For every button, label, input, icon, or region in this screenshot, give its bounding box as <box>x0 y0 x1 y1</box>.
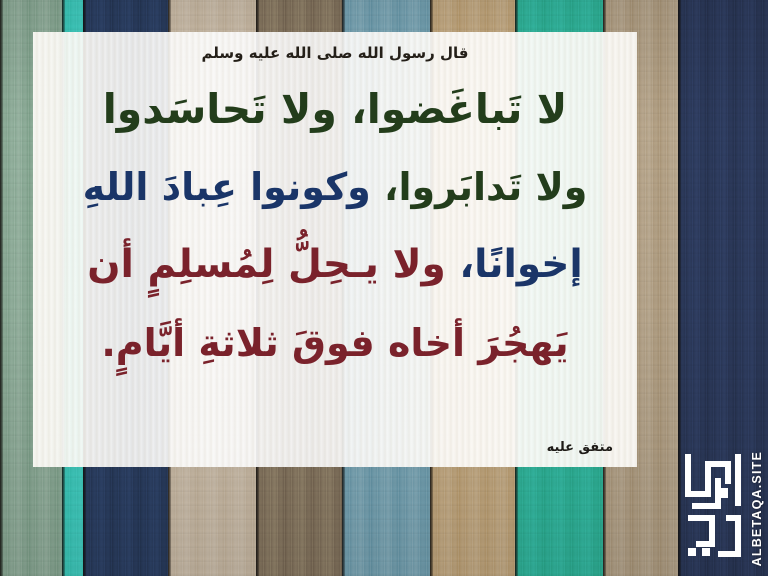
hadith-intro: قال رسول الله صلى الله عليه وسلم <box>47 44 623 62</box>
hadith-line: يَهجُرَ أخاه فوقَ ثلاثةِ أيَّامٍ. <box>47 304 623 382</box>
plank-seam <box>0 0 3 576</box>
hadith-card: قال رسول الله صلى الله عليه وسلم لا تَبا… <box>0 0 768 576</box>
kufic-square-logo-icon <box>682 448 744 560</box>
hadith-segment-green: لا تَباغَضوا، ولا تَحاسَدوا <box>103 85 568 133</box>
watermark[interactable]: ALBETAQA.SITE <box>682 440 762 568</box>
hadith-line: ولا تَدابَروا، وكونوا عِبادَ اللهِ <box>47 148 623 226</box>
plank-seam <box>678 0 681 576</box>
hadith-text: لا تَباغَضوا، ولا تَحاسَدواولا تَدابَروا… <box>47 70 623 440</box>
hadith-source: متفق عليه <box>47 440 623 459</box>
hadith-segment-navy: إخوانًا، <box>446 242 583 287</box>
hadith-segment-navy: وكونوا عِبادَ اللهِ <box>83 165 371 209</box>
hadith-segment-maroon: ولا يـحِلُّ لِمُسلِمٍ أن <box>87 242 446 287</box>
hadith-segment-green: ولا تَدابَروا، <box>371 165 588 209</box>
hadith-segment-maroon: يَهجُرَ أخاه فوقَ ثلاثةِ أيَّامٍ. <box>101 321 568 365</box>
hadith-line: لا تَباغَضوا، ولا تَحاسَدوا <box>47 70 623 148</box>
hadith-line: إخوانًا، ولا يـحِلُّ لِمُسلِمٍ أن <box>47 226 623 304</box>
watermark-site-label: ALBETAQA.SITE <box>751 451 764 566</box>
content-panel: قال رسول الله صلى الله عليه وسلم لا تَبا… <box>33 32 637 467</box>
